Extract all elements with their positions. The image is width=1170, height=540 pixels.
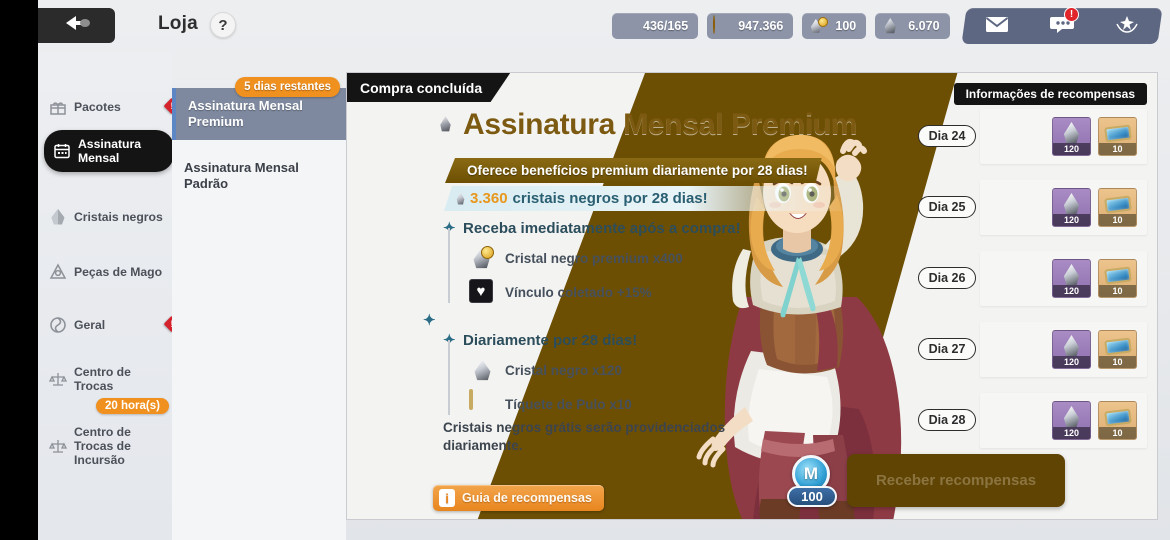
day-label: Dia 27 xyxy=(918,338,976,360)
benefit-group-heading: ✦ Receba imediatamente após a compra! xyxy=(443,219,773,237)
page-title: Loja xyxy=(158,13,198,35)
benefit-group-heading: ✦ Diariamente por 28 dias! xyxy=(443,331,773,349)
reward-qty: 120 xyxy=(1053,427,1090,439)
reward-qty: 10 xyxy=(1099,427,1136,439)
benefit-label: Cristal negro x120 xyxy=(505,363,622,378)
mail-icon xyxy=(984,14,1010,39)
sidebar-item-label: Geral xyxy=(74,318,105,332)
benefit-label: Cristal negro premium x400 xyxy=(505,251,683,266)
reward-day-row[interactable]: Dia 27 120 10 xyxy=(980,322,1147,377)
general-icon xyxy=(48,316,67,335)
sidebar-item-cristais-negros[interactable]: Cristais negros xyxy=(48,202,172,232)
currency-chip-gold[interactable]: 947.366 xyxy=(707,13,793,39)
incursion-timer-badge: 20 hora(s) xyxy=(96,398,169,414)
reward-day-row[interactable]: Dia 26 120 10 xyxy=(980,251,1147,306)
gold-coin-icon xyxy=(712,16,732,36)
benefit-heading-text: Receba imediatamente após a compra! xyxy=(463,220,741,237)
sidebar: Pacotes Assinatura Mensal Cristais negro… xyxy=(38,52,172,540)
sidebar-item-pacotes[interactable]: Pacotes xyxy=(48,92,172,122)
benefit-label: Tíquete de Pulo x10 xyxy=(505,397,632,412)
reward-qty: 10 xyxy=(1099,214,1136,226)
product-title: Assinatura Mensal Premium xyxy=(435,108,857,142)
claim-rewards-button[interactable]: Receber recompensas xyxy=(847,454,1065,507)
calendar-icon xyxy=(52,142,71,161)
reward-qty: 120 xyxy=(1053,214,1090,226)
black-crystal-icon xyxy=(469,357,495,383)
black-crystal-icon xyxy=(456,192,465,205)
benefit-heading-text: Diariamente por 28 dias! xyxy=(463,332,637,349)
benefit-group-daily: ✦ Diariamente por 28 dias! Cristal negro… xyxy=(443,331,773,417)
reward-day-row[interactable]: Dia 25 120 10 xyxy=(980,180,1147,235)
left-black-rail xyxy=(0,0,38,540)
benefit-row: Vínculo coletado +15% xyxy=(469,279,773,305)
reward-qty: 10 xyxy=(1099,143,1136,155)
sidebar-item-label: Centro de Trocas de Incursão xyxy=(74,425,172,467)
reward-day-row[interactable]: Dia 28 120 10 xyxy=(980,393,1147,448)
sidebar-item-label: Assinatura Mensal xyxy=(78,137,166,165)
black-crystal-icon xyxy=(881,17,901,35)
help-button[interactable]: ? xyxy=(210,12,236,38)
sublist-item-label: Assinatura Mensal Premium xyxy=(188,98,303,129)
boot-icon xyxy=(617,16,637,36)
top-bar: Loja ? 436/165 947.366 100 6.070 xyxy=(38,0,1170,52)
scale-icon xyxy=(48,370,67,389)
sparkle-icon: ✦ xyxy=(443,331,455,349)
shop-screen: Loja ? 436/165 947.366 100 6.070 xyxy=(0,0,1170,540)
crystal-banner-text: cristais negros por 28 dias! xyxy=(513,190,708,207)
bond-heart-icon xyxy=(469,279,495,305)
jump-ticket-icon xyxy=(469,391,495,417)
currency-value: 436/165 xyxy=(643,19,688,33)
mileage-value: 100 xyxy=(787,486,837,507)
sparkle-icon: ✦ xyxy=(443,219,455,237)
subscription-list: Assinatura Mensal Premium 5 dias restant… xyxy=(172,88,346,540)
reward-qty: 120 xyxy=(1053,356,1090,368)
day-label: Dia 25 xyxy=(918,196,976,218)
reward-cell-ticket[interactable]: 10 xyxy=(1098,259,1137,298)
currency-value: 6.070 xyxy=(908,19,939,33)
sublist-item-premium[interactable]: Assinatura Mensal Premium 5 dias restant… xyxy=(172,88,346,140)
day-label: Dia 28 xyxy=(918,409,976,431)
back-arrow-icon xyxy=(62,13,92,38)
sidebar-item-geral[interactable]: Geral xyxy=(48,310,172,340)
chat-notification-badge: ! xyxy=(1064,7,1079,22)
currency-chip-boot[interactable]: 436/165 xyxy=(612,13,698,39)
sidebar-item-pecas-de-mago[interactable]: Peças de Mago xyxy=(48,257,172,287)
currency-value: 947.366 xyxy=(738,19,783,33)
crystal-title-icon xyxy=(435,114,455,136)
reward-guide-button[interactable]: i Guia de recompensas xyxy=(433,485,604,511)
scale-icon xyxy=(48,437,67,456)
reward-qty: 10 xyxy=(1099,356,1136,368)
reward-qty: 10 xyxy=(1099,285,1136,297)
daily-note: Cristais negros grátis serão providencia… xyxy=(443,419,743,455)
guild-emblem-icon xyxy=(1114,14,1140,39)
rewards-info-header: Informações de recompensas xyxy=(954,83,1147,105)
currency-bar: 436/165 947.366 100 6.070 xyxy=(612,13,950,39)
action-icon-bar: ! xyxy=(961,8,1162,44)
reward-cell-crystal[interactable]: 120 xyxy=(1052,188,1091,227)
reward-qty: 120 xyxy=(1053,143,1090,155)
benefit-row: Tíquete de Pulo x10 xyxy=(469,391,773,417)
sparkle-icon: ✦ xyxy=(423,311,773,329)
benefit-group-immediate: ✦ Receba imediatamente após a compra! Cr… xyxy=(443,219,773,305)
mage-piece-icon xyxy=(48,263,67,282)
guild-button[interactable] xyxy=(1110,13,1144,39)
chat-button[interactable]: ! xyxy=(1045,13,1079,39)
sublist-item-label: Assinatura Mensal Padrão xyxy=(184,160,299,191)
benefits-list: ✦ Receba imediatamente após a compra! Cr… xyxy=(443,219,773,417)
reward-cell-ticket[interactable]: 10 xyxy=(1098,401,1137,440)
reward-cell-crystal[interactable]: 120 xyxy=(1052,117,1091,156)
sidebar-item-label: Centro de Trocas xyxy=(74,365,172,393)
sidebar-item-centro-de-trocas-de-incursao[interactable]: Centro de Trocas de Incursão xyxy=(48,425,172,467)
mail-button[interactable] xyxy=(980,13,1014,39)
info-icon: i xyxy=(439,489,455,507)
crystal-total-banner: 3.360 cristais negros por 28 dias! xyxy=(444,186,854,211)
mileage-coin-badge: M 100 xyxy=(785,455,839,509)
day-label: Dia 26 xyxy=(918,267,976,289)
reward-cell-ticket[interactable]: 10 xyxy=(1098,330,1137,369)
reward-cell-ticket[interactable]: 10 xyxy=(1098,117,1137,156)
reward-cell-crystal[interactable]: 120 xyxy=(1052,330,1091,369)
benefit-label: Vínculo coletado +15% xyxy=(505,285,652,300)
reward-cell-crystal[interactable]: 120 xyxy=(1052,401,1091,440)
sidebar-item-label: Pacotes xyxy=(74,100,121,114)
day-label: Dia 24 xyxy=(918,125,976,147)
status-tab: Compra concluída xyxy=(347,73,510,102)
mileage-symbol: M xyxy=(804,464,818,484)
days-remaining-badge: 5 dias restantes xyxy=(235,77,340,97)
reward-cell-ticket[interactable]: 10 xyxy=(1098,188,1137,227)
currency-chip-black-crystal[interactable]: 6.070 xyxy=(875,13,949,39)
benefit-row: Cristal negro premium x400 xyxy=(469,245,773,271)
sublist-item-padrao[interactable]: Assinatura Mensal Padrão xyxy=(172,150,346,202)
gift-icon xyxy=(48,98,67,117)
sidebar-item-label: Peças de Mago xyxy=(74,265,162,279)
reward-day-row[interactable]: Dia 24 120 10 xyxy=(980,109,1147,164)
reward-guide-label: Guia de recompensas xyxy=(462,491,592,505)
back-button[interactable] xyxy=(38,8,115,43)
crystal-icon xyxy=(48,208,67,227)
premium-crystal-icon xyxy=(469,245,495,271)
currency-value: 100 xyxy=(835,19,856,33)
crystal-amount: 3.360 xyxy=(470,190,508,207)
sidebar-item-centro-de-trocas[interactable]: Centro de Trocas xyxy=(48,364,172,394)
currency-chip-premium-crystal[interactable]: 100 xyxy=(802,13,866,39)
reward-cell-crystal[interactable]: 120 xyxy=(1052,259,1091,298)
sidebar-item-label: Cristais negros xyxy=(74,210,163,224)
reward-qty: 120 xyxy=(1053,285,1090,297)
sidebar-item-assinatura-mensal[interactable]: Assinatura Mensal xyxy=(44,130,174,172)
benefit-ribbon: Oferece benefícios premium diariamente p… xyxy=(445,158,822,183)
product-title-text: Assinatura Mensal Premium xyxy=(463,108,857,142)
benefit-row: Cristal negro x120 xyxy=(469,357,773,383)
product-panel: Compra concluída Assinatura Mensal Premi… xyxy=(346,72,1158,520)
premium-crystal-icon xyxy=(808,17,828,35)
